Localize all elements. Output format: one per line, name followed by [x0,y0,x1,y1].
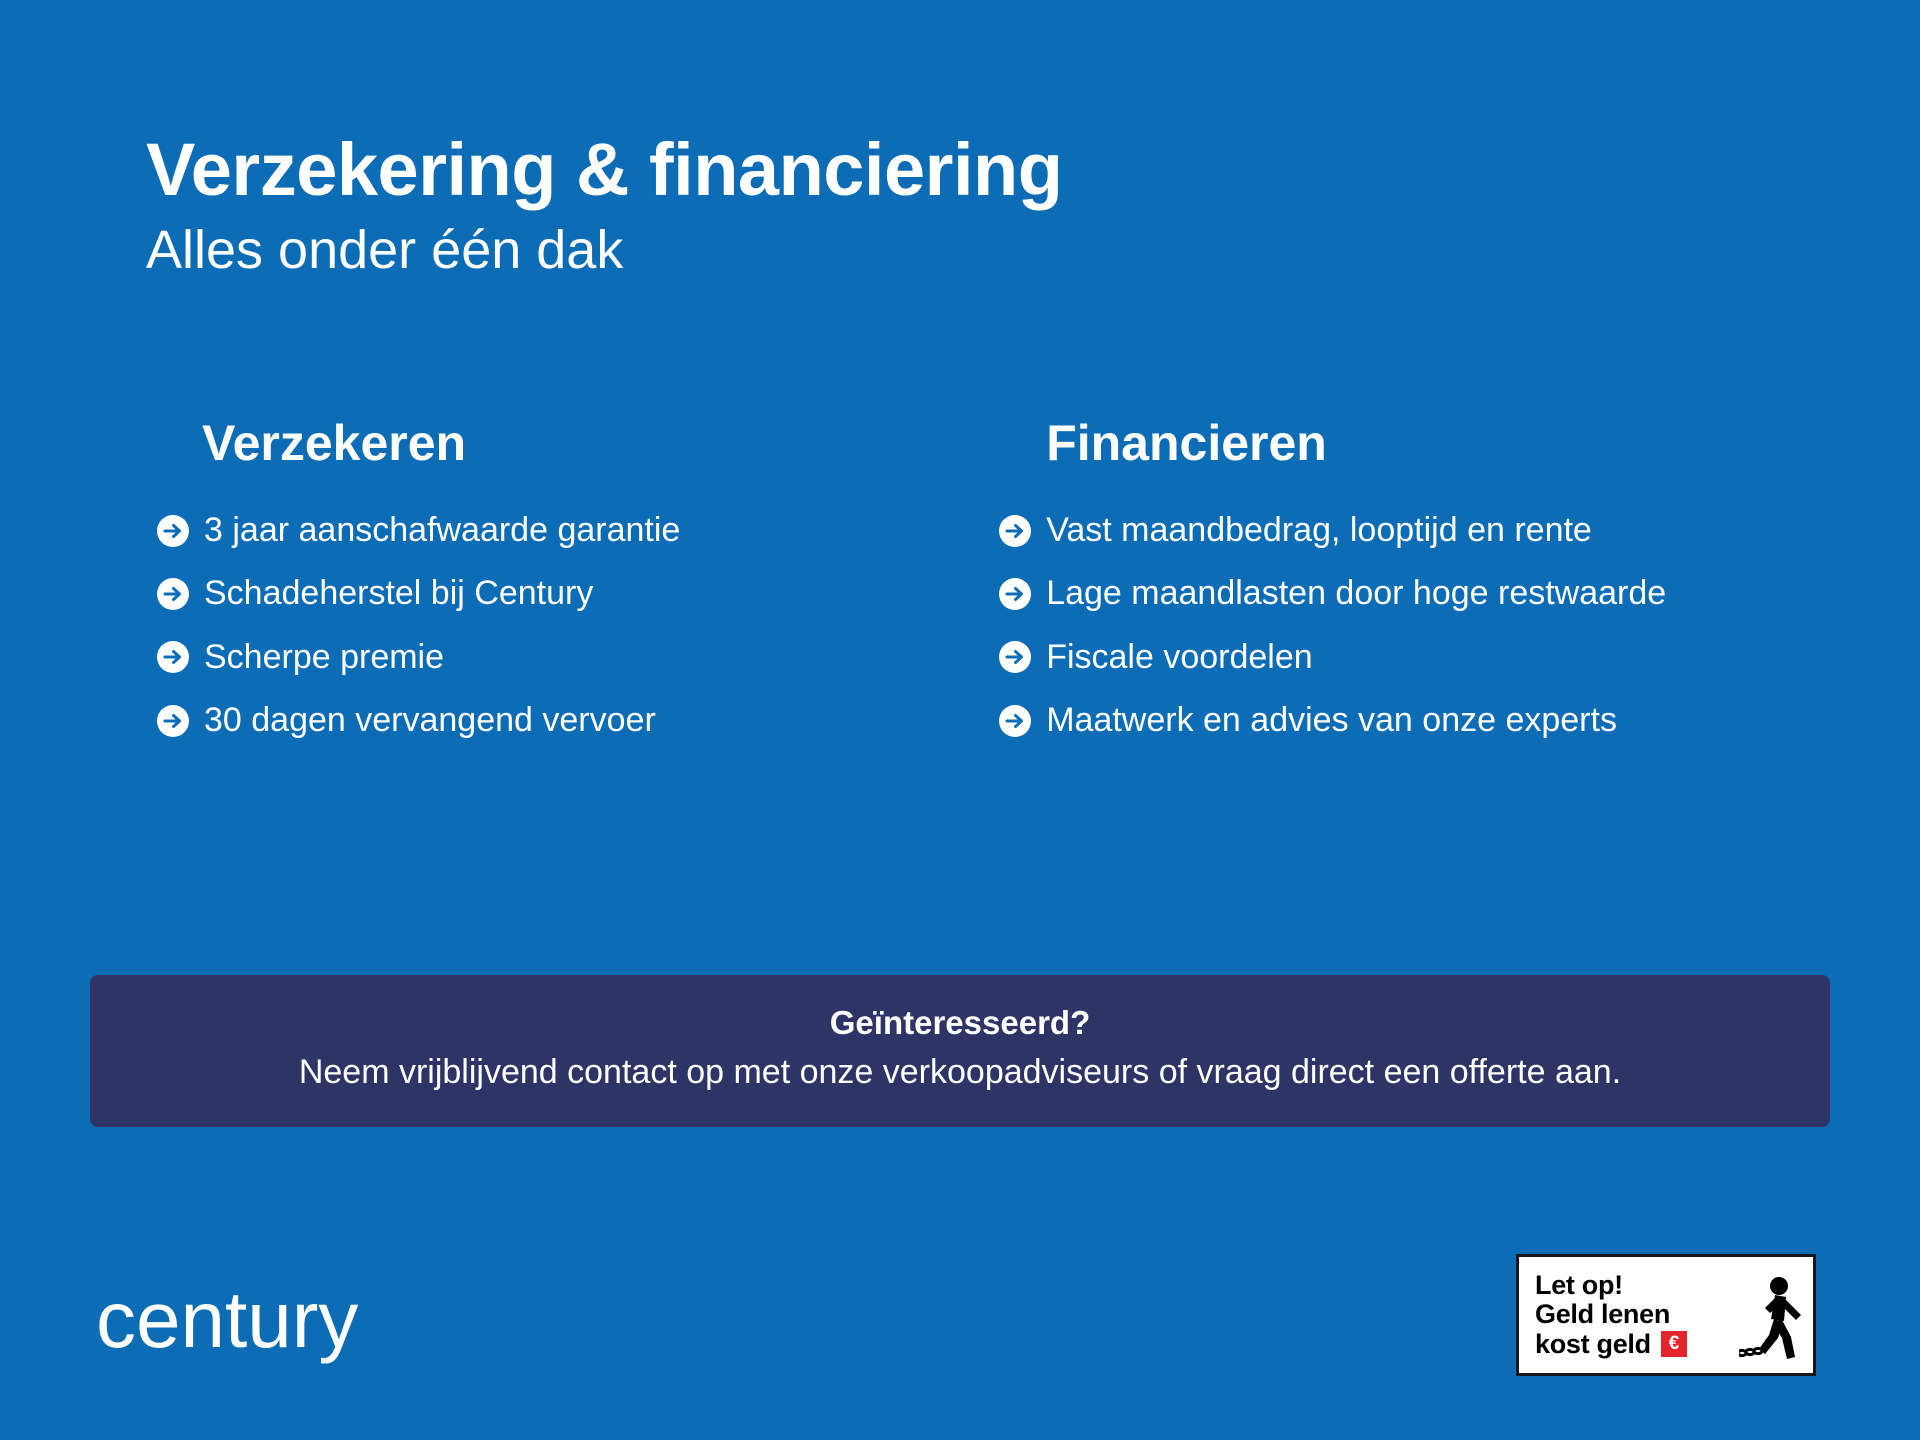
arrow-right-circle-icon [998,514,1032,548]
column-verzekeren: Verzekeren 3 jaar aanschafwaarde garanti… [100,418,998,740]
bullet-list-verzekeren: 3 jaar aanschafwaarde garantie Schadeher… [156,512,998,740]
list-item: Fiscale voordelen [998,639,1860,676]
arrow-right-circle-icon [998,640,1032,674]
feature-columns: Verzekeren 3 jaar aanschafwaarde garanti… [100,418,1860,740]
warning-text-block: Let op! Geld lenen kost geld € [1535,1271,1743,1358]
list-item-label: Lage maandlasten door hoge restwaarde [1046,575,1666,612]
list-item: Lage maandlasten door hoge restwaarde [998,575,1860,612]
warning-line-3: kost geld [1535,1330,1651,1359]
list-item: Vast maandbedrag, looptijd en rente [998,512,1860,549]
list-item: Maatwerk en advies van onze experts [998,702,1860,739]
list-item: Schadeherstel bij Century [156,575,998,612]
list-item-label: Scherpe premie [204,639,444,676]
list-item: Scherpe premie [156,639,998,676]
list-item-label: 30 dagen vervangend vervoer [204,702,656,739]
list-item: 3 jaar aanschafwaarde garantie [156,512,998,549]
arrow-right-circle-icon [156,577,190,611]
page-subtitle: Alles onder één dak [146,219,1746,281]
walking-person-with-ball-and-chain-icon [1739,1275,1805,1367]
cta-text: Neem vrijblijvend contact op met onze ve… [120,1051,1800,1094]
credit-warning-label: Let op! Geld lenen kost geld € [1516,1254,1816,1376]
cta-title: Geïnteresseerd? [120,1003,1800,1043]
column-financieren: Financieren Vast maandbedrag, looptijd e… [998,418,1860,740]
header: Verzekering & financiering Alles onder é… [146,132,1746,281]
warning-line-2: Geld lenen [1535,1300,1743,1329]
euro-block-icon: € [1661,1331,1687,1357]
list-item-label: Maatwerk en advies van onze experts [1046,702,1617,739]
bullet-list-financieren: Vast maandbedrag, looptijd en rente Lage… [998,512,1860,740]
century-logo: century [96,1280,358,1360]
arrow-right-circle-icon [998,577,1032,611]
cta-banner[interactable]: Geïnteresseerd? Neem vrijblijvend contac… [90,975,1830,1127]
column-heading-financieren: Financieren [1046,418,1860,468]
slide-root: Verzekering & financiering Alles onder é… [0,0,1920,1440]
list-item-label: Fiscale voordelen [1046,639,1312,676]
arrow-right-circle-icon [156,704,190,738]
warning-line-1: Let op! [1535,1271,1743,1300]
list-item-label: 3 jaar aanschafwaarde garantie [204,512,680,549]
warning-line-3-row: kost geld € [1535,1330,1743,1359]
arrow-right-circle-icon [998,704,1032,738]
list-item-label: Schadeherstel bij Century [204,575,593,612]
page-title: Verzekering & financiering [146,132,1746,209]
list-item-label: Vast maandbedrag, looptijd en rente [1046,512,1592,549]
arrow-right-circle-icon [156,514,190,548]
column-heading-verzekeren: Verzekeren [202,418,998,468]
list-item: 30 dagen vervangend vervoer [156,702,998,739]
arrow-right-circle-icon [156,640,190,674]
